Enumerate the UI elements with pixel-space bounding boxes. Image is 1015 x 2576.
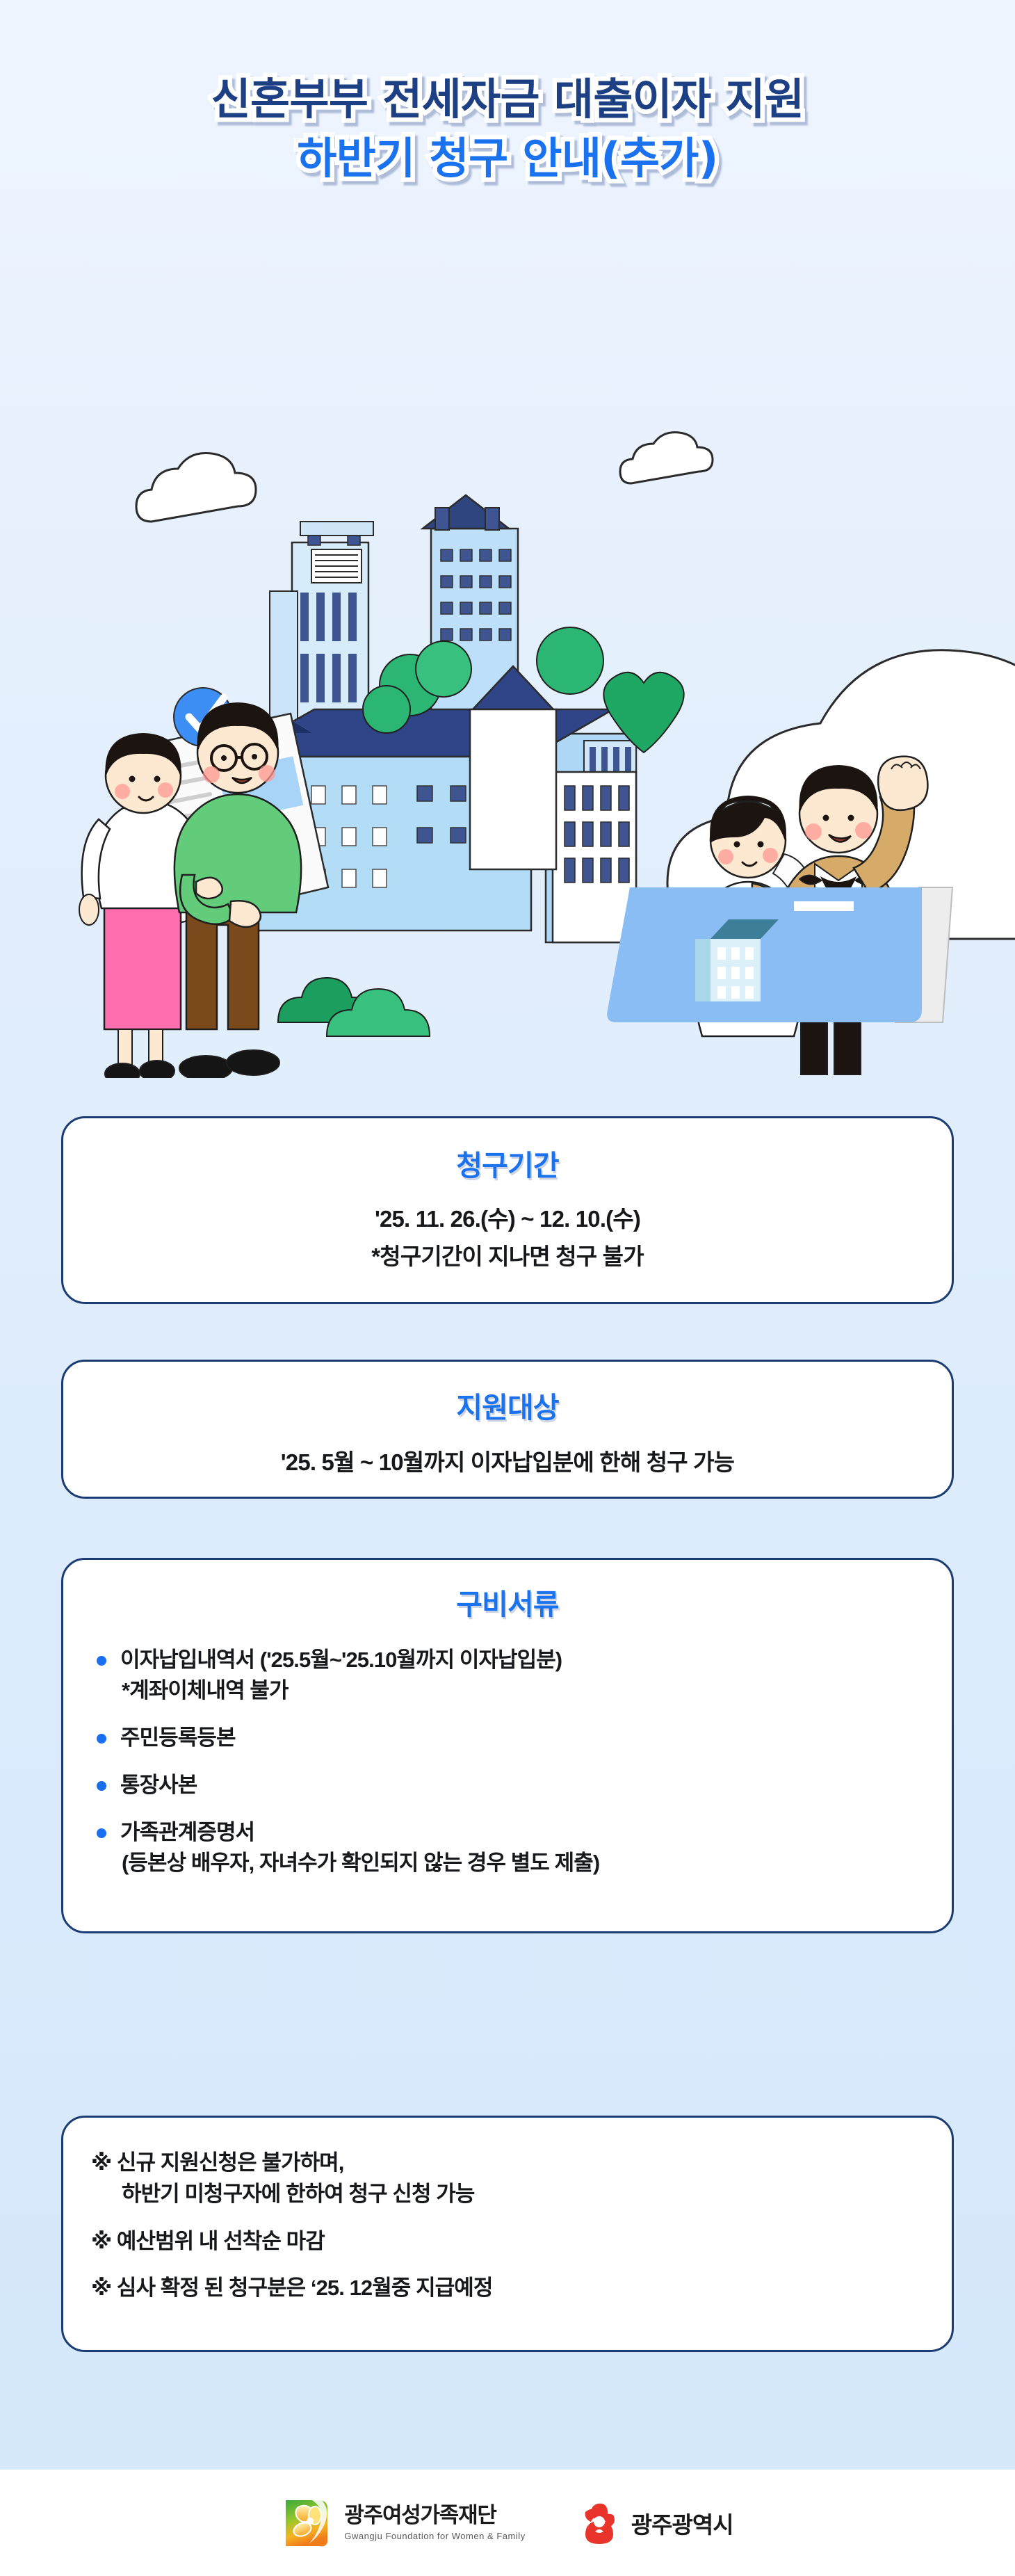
poster-title: 신혼부부 전세자금 대출이자 지원 하반기 청구 안내(추가) <box>0 75 1015 183</box>
title-line-1: 신혼부부 전세자금 대출이자 지원 <box>0 75 1015 123</box>
notice-item: ※ 예산범위 내 선착순 마감 <box>91 2225 924 2257</box>
blue-banner-house-icon <box>607 887 952 1022</box>
notice-continuation: 하반기 미청구자에 한하여 청구 신청 가능 <box>91 2178 924 2209</box>
card-claim-period: 청구기간 '25. 11. 26.(수) ~ 12. 10.(수) *청구기간이… <box>61 1116 954 1304</box>
foundation-flower-icon <box>282 2497 334 2549</box>
list-item: 주민등록등본 <box>91 1723 924 1753</box>
eligibility-text: '25. 5월 ~ 10월까지 이자납입분에 한해 청구 가능 <box>91 1445 924 1480</box>
document-name: 가족관계증명서 <box>120 1820 254 1844</box>
hero-illustration <box>0 327 1015 1078</box>
list-item: 통장사본 <box>91 1770 924 1801</box>
document-note: *계좌이체내역 불가 <box>120 1675 924 1706</box>
notice-text: ※ 신규 지원신청은 불가하며, <box>91 2150 343 2175</box>
list-item: 이자납입내역서 ('25.5월~'25.10월까지 이자납입분) *계좌이체내역… <box>91 1645 924 1706</box>
footer: 광주여성가족재단 Gwangju Foundation for Women & … <box>0 2470 1015 2576</box>
notice-item: ※ 신규 지원신청은 불가하며, 하반기 미청구자에 한하여 청구 신청 가능 <box>91 2147 924 2210</box>
city-name-kr: 광주광역시 <box>631 2506 733 2540</box>
card-notices: ※ 신규 지원신청은 불가하며, 하반기 미청구자에 한하여 청구 신청 가능 … <box>61 2116 954 2352</box>
poster-root: 신혼부부 전세자금 대출이자 지원 하반기 청구 안내(추가) <box>0 0 1015 2576</box>
gwangju-city-figure-icon <box>577 2501 622 2545</box>
bullet-dot-icon <box>97 1828 106 1838</box>
foundation-name-kr: 광주여성가족재단 <box>344 2504 525 2526</box>
required-documents-list: 이자납입내역서 ('25.5월~'25.10월까지 이자납입분) *계좌이체내역… <box>91 1645 924 1878</box>
title-line-2: 하반기 청구 안내(추가) <box>0 134 1015 182</box>
document-name: 이자납입내역서 ('25.5월~'25.10월까지 이자납입분) <box>120 1648 562 1672</box>
list-item: 가족관계증명서 (등본상 배우자, 자녀수가 확인되지 않는 경우 별도 제출) <box>91 1817 924 1878</box>
notice-item: ※ 심사 확정 된 청구분은 ‘25. 12월중 지급예정 <box>91 2272 924 2303</box>
document-note: (등본상 배우자, 자녀수가 확인되지 않는 경우 별도 제출) <box>120 1848 924 1878</box>
card-heading-eligibility: 지원대상 <box>91 1384 924 1426</box>
notices-list: ※ 신규 지원신청은 불가하며, 하반기 미청구자에 한하여 청구 신청 가능 … <box>91 2147 924 2303</box>
bullet-dot-icon <box>97 1734 106 1744</box>
document-name: 주민등록등본 <box>120 1725 236 1750</box>
claim-period-note: *청구기간이 지나면 청구 불가 <box>91 1239 924 1274</box>
card-eligibility: 지원대상 '25. 5월 ~ 10월까지 이자납입분에 한해 청구 가능 <box>61 1360 954 1499</box>
notice-text: ※ 예산범위 내 선착순 마감 <box>91 2229 325 2253</box>
document-name: 통장사본 <box>120 1773 197 1797</box>
bullet-dot-icon <box>97 1781 106 1791</box>
foundation-name-en: Gwangju Foundation for Women & Family <box>344 2531 525 2541</box>
logo-gwangju-foundation: 광주여성가족재단 Gwangju Foundation for Women & … <box>282 2497 525 2549</box>
card-required-documents: 구비서류 이자납입내역서 ('25.5월~'25.10월까지 이자납입분) *계… <box>61 1558 954 1933</box>
card-heading-claim-period: 청구기간 <box>91 1142 924 1184</box>
bullet-dot-icon <box>97 1656 106 1666</box>
claim-period-dates: '25. 11. 26.(수) ~ 12. 10.(수) <box>91 1202 924 1237</box>
notice-text: ※ 심사 확정 된 청구분은 ‘25. 12월중 지급예정 <box>91 2276 492 2300</box>
foundation-logo-text: 광주여성가족재단 Gwangju Foundation for Women & … <box>344 2504 525 2541</box>
logo-gwangju-city: 광주광역시 <box>577 2501 733 2545</box>
card-heading-required-documents: 구비서류 <box>91 1581 924 1623</box>
